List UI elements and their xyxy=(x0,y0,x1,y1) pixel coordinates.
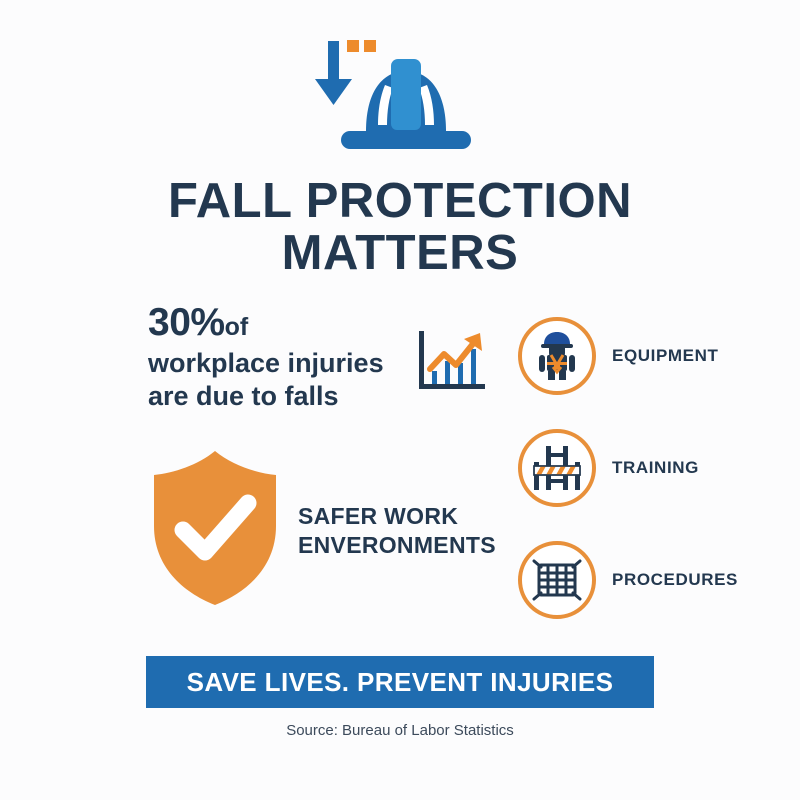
page-title: FALL PROTECTION MATTERS xyxy=(0,176,800,280)
shield-icon-container xyxy=(150,448,280,613)
statistic-line-2: workplace injuries xyxy=(148,347,400,379)
title-line-1: FALL PROTECTION xyxy=(0,176,800,228)
hard-hat-with-falling-arrow-icon xyxy=(310,35,490,155)
ladder-barrier-icon xyxy=(532,444,582,492)
feature-badge-procedures xyxy=(518,541,596,619)
motion-square-1 xyxy=(347,40,359,52)
chart-icon-container xyxy=(416,329,488,400)
feature-badge-training xyxy=(518,429,596,507)
shield-checkmark-icon xyxy=(150,448,280,608)
statistic-block: 30%of workplace injuries are due to fall… xyxy=(148,300,498,413)
feature-label-training: TRAINING xyxy=(612,458,699,478)
safety-net-icon xyxy=(532,558,582,602)
safer-work-label: SAFER WORK ENVERONMENTS xyxy=(298,502,496,558)
safer-work-label-line-1: SAFER WORK xyxy=(298,502,496,530)
infographic-poster: FALL PROTECTION MATTERS 30%of workplace … xyxy=(0,0,800,800)
feature-item-procedures[interactable]: PROCEDURES xyxy=(518,524,786,636)
feature-item-training[interactable]: TRAINING xyxy=(518,412,786,524)
call-to-action-banner[interactable]: SAVE LIVES. PREVENT INJURIES xyxy=(146,656,654,708)
statistic-line-3: are due to falls xyxy=(148,380,400,412)
statistic-of-word: of xyxy=(225,313,249,341)
motion-square-2 xyxy=(364,40,376,52)
safer-work-label-line-2: ENVERONMENTS xyxy=(298,531,496,559)
statistic-text: 30%of workplace injuries are due to fall… xyxy=(148,300,400,413)
call-to-action-text: SAVE LIVES. PREVENT INJURIES xyxy=(187,667,614,698)
hero-icon-container xyxy=(0,30,800,160)
safer-work-block: SAFER WORK ENVERONMENTS xyxy=(150,448,495,613)
feature-item-equipment[interactable]: EQUIPMENT xyxy=(518,300,786,412)
feature-badge-equipment xyxy=(518,317,596,395)
rising-bar-chart-icon xyxy=(416,329,488,395)
statistic-headline: 30%of xyxy=(148,300,400,346)
source-attribution: Source: Bureau of Labor Statistics xyxy=(0,722,800,739)
feature-label-equipment: EQUIPMENT xyxy=(612,346,718,366)
feature-list: EQUIPMENT xyxy=(518,300,786,636)
statistic-percent: 30% xyxy=(148,301,225,344)
title-line-2: MATTERS xyxy=(0,228,800,280)
worker-harness-icon xyxy=(534,331,580,381)
feature-label-procedures: PROCEDURES xyxy=(612,570,738,590)
